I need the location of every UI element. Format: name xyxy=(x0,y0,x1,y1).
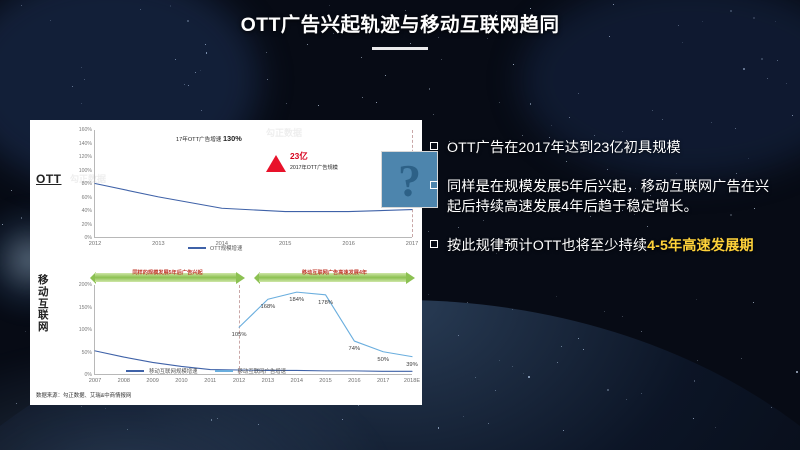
x-tick-label: 2016 xyxy=(342,241,354,247)
slide-canvas: OTT广告兴起轨迹与移动互联网趋同 勾正数据 勾正数据 OTT 移动互联网 0%… xyxy=(0,0,800,450)
x-tick-label: 2012 xyxy=(89,241,101,247)
band-right-label: 移动互联网广告高速发展4年 xyxy=(254,269,415,276)
page-title: OTT广告兴起轨迹与移动互联网趋同 xyxy=(0,8,800,37)
data-label: 178% xyxy=(318,300,333,306)
top-chart-y-axis: 0%20%40%60%80%100%120%140%160% xyxy=(68,128,92,256)
list-item: 按此规律预计OTT也将至少持续4-5年高速发展期 xyxy=(430,236,782,256)
chart-ott-growth: 0%20%40%60%80%100%120%140%160% 201220132… xyxy=(68,128,416,256)
legend-swatch-ott xyxy=(188,247,206,249)
bottom-chart-plot-area: 2007200820092010201120122013201420152016… xyxy=(94,285,412,375)
x-tick-label: 2015 xyxy=(279,241,291,247)
x-tick-label: 2011 xyxy=(204,378,216,384)
bullet-square-icon xyxy=(430,240,438,248)
y-tick-label: 100% xyxy=(79,327,92,333)
y-tick-label: 200% xyxy=(79,282,92,288)
chart-panel: 勾正数据 勾正数据 OTT 移动互联网 0%20%40%60%80%100%12… xyxy=(30,120,422,405)
top-chart-series-svg xyxy=(95,130,412,237)
phase-band-right: 移动互联网广告高速发展4年 xyxy=(254,273,415,282)
data-label: 74% xyxy=(349,346,361,352)
data-label: 50% xyxy=(377,357,389,363)
bullet-square-icon xyxy=(430,142,438,150)
source-note: 数据来源：勾正数据、艾瑞&中商情报网 xyxy=(36,391,131,399)
x-tick-label: 2010 xyxy=(175,378,187,384)
legend-label-mobile-ad: 移动互联网广告增速 xyxy=(238,367,287,375)
x-tick-label: 2016 xyxy=(348,378,360,384)
bottom-chart-y-axis: 0%50%100%150%200% xyxy=(68,283,92,393)
chart-mobile-internet: 0%50%100%150%200% 2007200820092010201120… xyxy=(68,283,416,393)
x-tick-label: 2015 xyxy=(319,378,331,384)
data-label: 105% xyxy=(232,332,247,338)
red-triangle-marker xyxy=(266,155,286,172)
data-label: 39% xyxy=(406,362,418,368)
y-tick-label: 50% xyxy=(82,350,92,356)
x-tick-label: 2009 xyxy=(146,378,158,384)
y-tick-label: 80% xyxy=(82,181,92,187)
y-tick-label: 100% xyxy=(79,168,92,174)
ott-row-label: OTT xyxy=(36,172,62,186)
series-line-0 xyxy=(95,184,412,212)
data-label: 168% xyxy=(260,304,275,310)
ott-scale-value: 23亿 xyxy=(290,150,338,162)
bullet-highlight: 4-5年高速发展期 xyxy=(647,238,754,254)
y-tick-label: 140% xyxy=(79,141,92,147)
image-placeholder-box: ? xyxy=(382,152,437,207)
x-tick-label: 2012 xyxy=(233,378,245,384)
legend-label-ott: OTT规模增速 xyxy=(210,244,242,252)
bullet-text-1: OTT广告在2017年达到23亿初具规模 xyxy=(447,138,681,158)
bullet-list: OTT广告在2017年达到23亿初具规模 同样是在规模发展5年后兴起，移动互联网… xyxy=(430,138,782,257)
x-tick-label: 2007 xyxy=(89,378,101,384)
title-underline-rule xyxy=(372,47,428,50)
bullet-text-2: 同样是在规模发展5年后兴起，移动互联网广告在兴起后持续高速发展4年后趋于稳定增长… xyxy=(447,177,782,217)
x-tick-label: 2018E xyxy=(404,378,420,384)
y-tick-label: 150% xyxy=(79,305,92,311)
ott-scale-callout: 23亿 2017年OTT广告规模 xyxy=(290,150,338,171)
y-tick-label: 20% xyxy=(82,222,92,228)
bullet-text-3: 按此规律预计OTT也将至少持续4-5年高速发展期 xyxy=(447,236,754,256)
bullet-square-icon xyxy=(430,181,438,189)
title-block: OTT广告兴起轨迹与移动互联网趋同 xyxy=(0,8,800,50)
ott-scale-caption: 2017年OTT广告规模 xyxy=(290,164,338,171)
phase-band-left: 同样的规模发展5年后广告兴起 xyxy=(90,273,245,282)
top-chart-plot-area: 201220132014201520162017 xyxy=(94,130,412,238)
x-tick-label: 2014 xyxy=(290,378,302,384)
phase-bands: 同样的规模发展5年后广告兴起 移动互联网广告高速发展4年 xyxy=(90,268,415,284)
ott-growth-note-prefix: 17年OTT广告增速 xyxy=(176,137,223,143)
x-tick-label: 2008 xyxy=(118,378,130,384)
y-tick-label: 40% xyxy=(82,208,92,214)
ott-growth-annotation: 17年OTT广告增速 130% xyxy=(176,134,242,143)
list-item: 同样是在规模发展5年后兴起，移动互联网广告在兴起后持续高速发展4年后趋于稳定增长… xyxy=(430,177,782,217)
legend-swatch-mobile-scale xyxy=(126,370,144,372)
data-label: 184% xyxy=(289,297,304,303)
legend-swatch-mobile-ad xyxy=(215,370,233,372)
ott-growth-note-value: 130% xyxy=(223,134,242,143)
x-tick-label: 2017 xyxy=(406,241,418,247)
x-tick-label: 2013 xyxy=(262,378,274,384)
y-tick-label: 60% xyxy=(82,195,92,201)
bottom-chart-series-svg xyxy=(95,285,412,374)
y-tick-label: 120% xyxy=(79,154,92,160)
list-item: OTT广告在2017年达到23亿初具规模 xyxy=(430,138,782,158)
band-left-label: 同样的规模发展5年后广告兴起 xyxy=(90,269,245,276)
x-tick-label: 2013 xyxy=(152,241,164,247)
question-mark-icon: ? xyxy=(398,158,421,204)
legend-label-mobile-scale: 移动互联网规模增速 xyxy=(149,367,198,375)
bottom-chart-legend: 移动互联网规模增速 移动互联网广告增速 xyxy=(126,367,286,375)
mobile-row-label: 移动互联网 xyxy=(38,275,54,334)
y-tick-label: 160% xyxy=(79,127,92,133)
top-chart-legend: OTT规模增速 xyxy=(188,244,242,252)
x-tick-label: 2017 xyxy=(377,378,389,384)
